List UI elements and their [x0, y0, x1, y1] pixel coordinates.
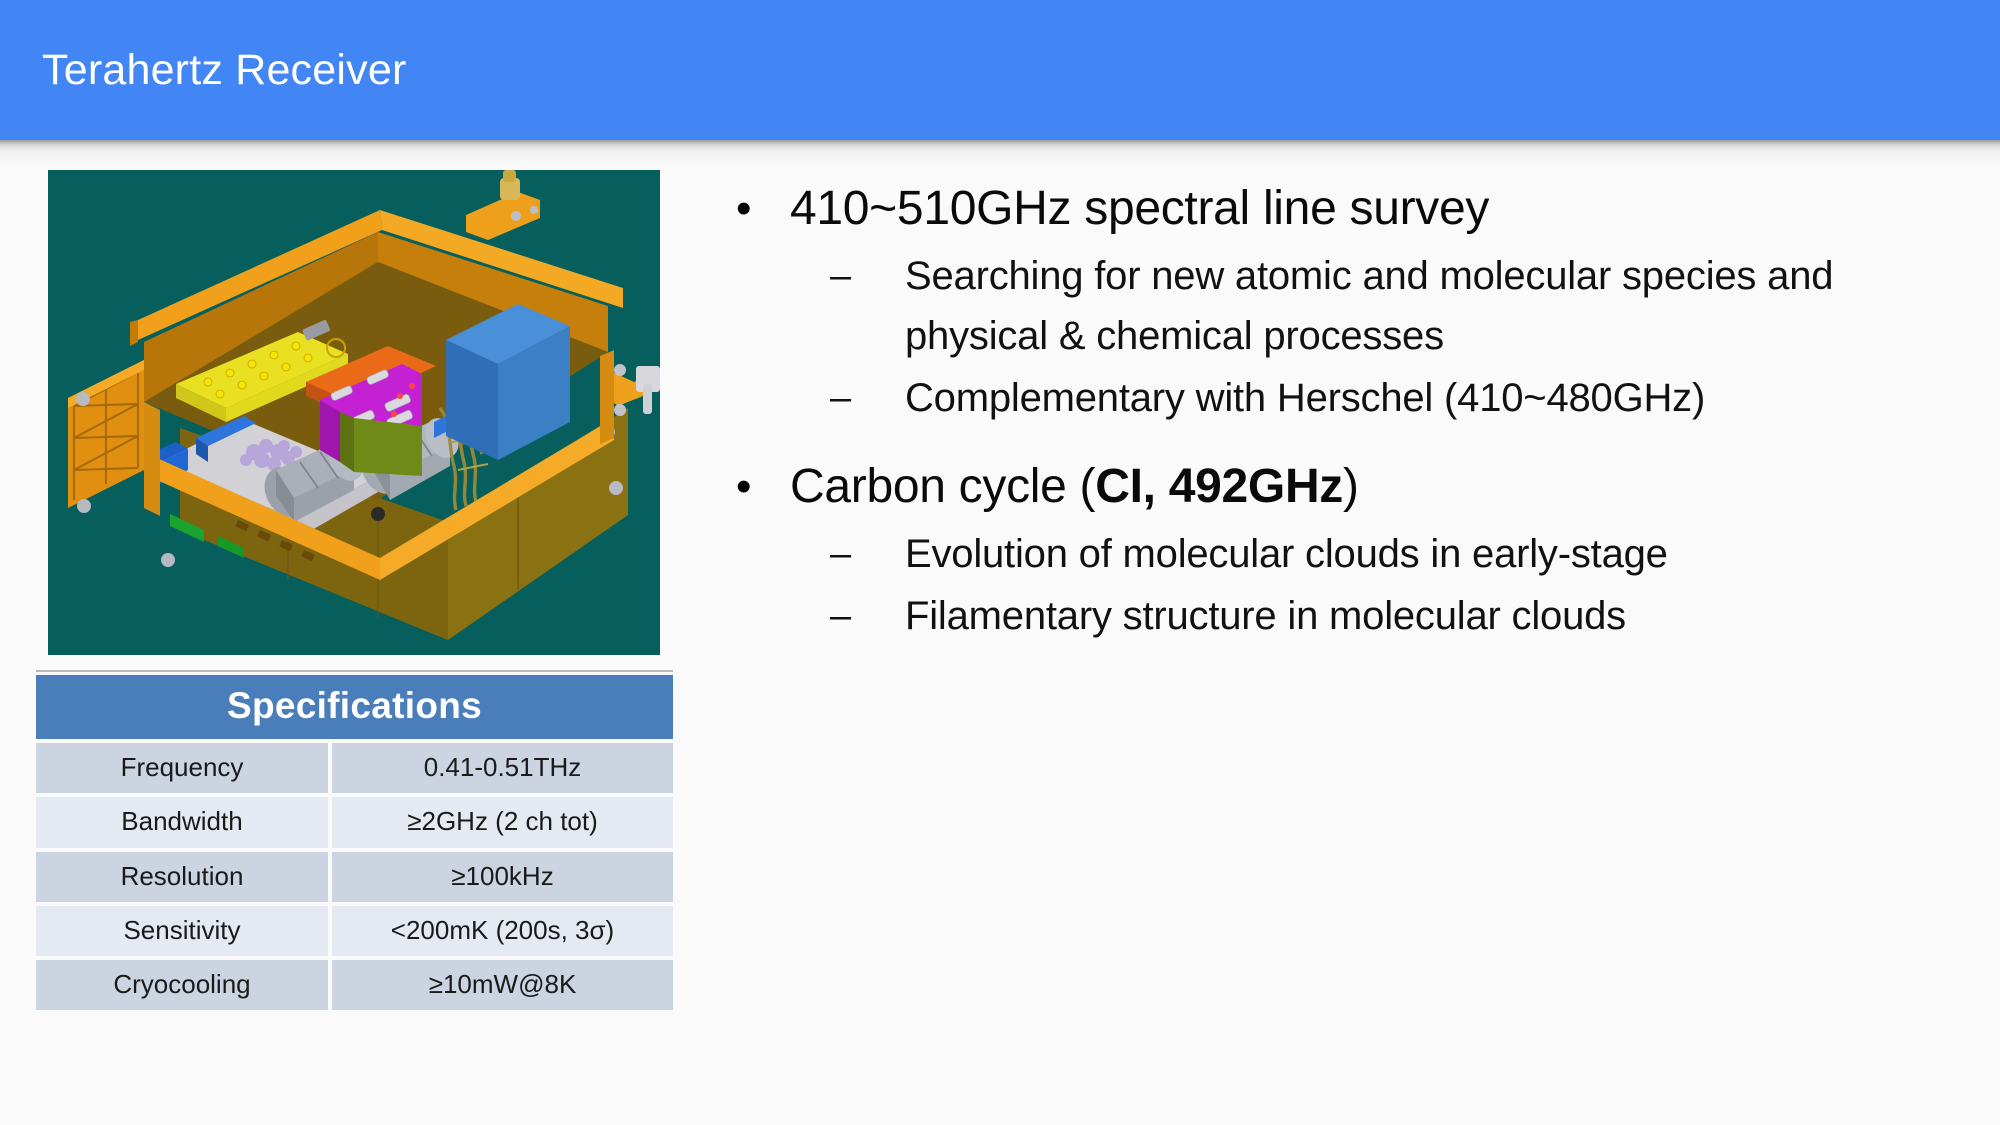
table-row: Cryocooling ≥10mW@8K	[36, 960, 673, 1010]
sub-bullet-item: – Filamentary structure in molecular clo…	[730, 586, 1980, 646]
sub-bullet-text-searching-species: Searching for new atomic and molecular s…	[905, 246, 1935, 366]
table-row: Frequency 0.41-0.51THz	[36, 743, 673, 793]
carbon-cycle-suffix: )	[1343, 460, 1359, 513]
terahertz-receiver-cad-image	[48, 170, 660, 655]
bullet-text-spectral-line-survey: 410~510GHz spectral line survey	[790, 178, 1489, 240]
bullet-group-spacer	[730, 430, 1980, 456]
bullet-text-carbon-cycle: Carbon cycle (CI, 492GHz)	[790, 456, 1359, 518]
spec-value-bandwidth: ≥2GHz (2 ch tot)	[332, 797, 673, 847]
bullet-marker-icon: •	[730, 456, 790, 518]
spec-value-sensitivity: <200mK (200s, 3σ)	[332, 906, 673, 956]
table-row: Bandwidth ≥2GHz (2 ch tot)	[36, 797, 673, 847]
bullet-item-primary: • 410~510GHz spectral line survey	[730, 178, 1980, 240]
spec-value-resolution: ≥100kHz	[332, 852, 673, 902]
specifications-table: Specifications Frequency 0.41-0.51THz Ba…	[36, 670, 673, 1010]
dash-marker-icon: –	[730, 368, 905, 428]
banner-drop-shadow	[0, 140, 2000, 166]
table-row: Resolution ≥100kHz	[36, 852, 673, 902]
sub-bullet-item: – Evolution of molecular clouds in early…	[730, 524, 1980, 584]
bullet-item-primary: • Carbon cycle (CI, 492GHz)	[730, 456, 1980, 518]
sub-bullet-text-complementary-herschel: Complementary with Herschel (410~480GHz)	[905, 368, 1705, 428]
table-row: Sensitivity <200mK (200s, 3σ)	[36, 906, 673, 956]
sub-bullet-item: – Complementary with Herschel (410~480GH…	[730, 368, 1980, 428]
page-title: Terahertz Receiver	[42, 49, 406, 92]
spec-label-resolution: Resolution	[36, 852, 328, 902]
specifications-table-header: Specifications	[36, 675, 673, 739]
carbon-cycle-bold: CI, 492GHz	[1095, 460, 1343, 513]
sub-bullet-item: – Searching for new atomic and molecular…	[730, 246, 1980, 366]
spec-label-sensitivity: Sensitivity	[36, 906, 328, 956]
carbon-cycle-prefix: Carbon cycle (	[790, 460, 1095, 513]
cad-render-svg	[48, 170, 660, 655]
dash-marker-icon: –	[730, 586, 905, 646]
dash-marker-icon: –	[730, 246, 905, 306]
slide-content-bullets: • 410~510GHz spectral line survey – Sear…	[730, 178, 1980, 648]
spec-label-cryocooling: Cryocooling	[36, 960, 328, 1010]
bullet-marker-icon: •	[730, 178, 790, 240]
spec-label-bandwidth: Bandwidth	[36, 797, 328, 847]
sub-bullet-text-evolution-clouds: Evolution of molecular clouds in early-s…	[905, 524, 1668, 584]
slide-title-banner: Terahertz Receiver	[0, 0, 2000, 140]
spec-label-frequency: Frequency	[36, 743, 328, 793]
spec-value-cryocooling: ≥10mW@8K	[332, 960, 673, 1010]
sub-bullet-text-filamentary-structure: Filamentary structure in molecular cloud…	[905, 586, 1626, 646]
dash-marker-icon: –	[730, 524, 905, 584]
spec-value-frequency: 0.41-0.51THz	[332, 743, 673, 793]
